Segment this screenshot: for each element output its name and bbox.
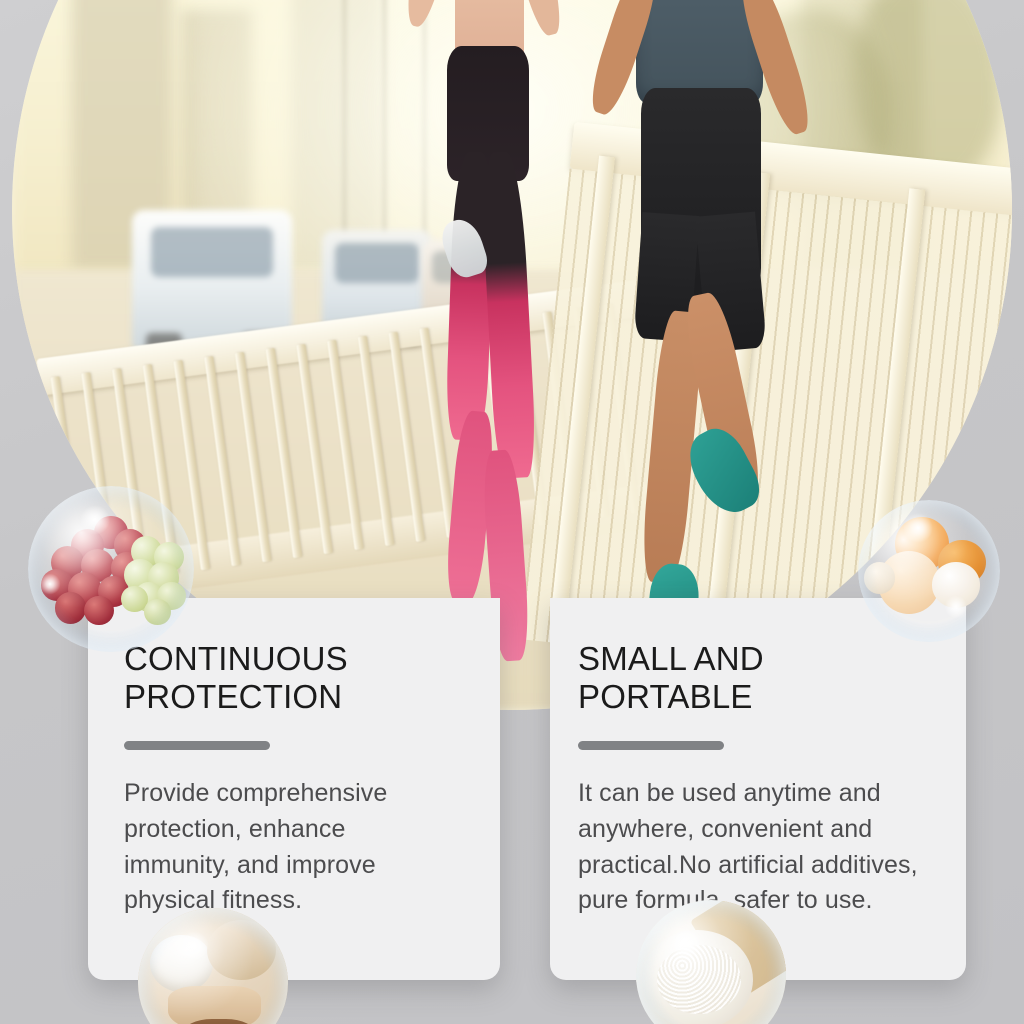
infographic-stage: CONTINUOUS PROTECTION Provide comprehens… [0, 0, 1024, 1024]
title-divider [578, 741, 724, 750]
card-title-line-2: PROTECTION [124, 678, 342, 715]
card-body-text: It can be used anytime and anywhere, con… [578, 776, 932, 919]
title-divider [124, 741, 270, 750]
grapes-bubble-icon [28, 486, 194, 652]
man-runner [602, 0, 862, 680]
card-title-line-1: SMALL AND [578, 640, 764, 677]
card-title: SMALL AND PORTABLE [578, 640, 932, 715]
cereal-milk-bubble-icon [138, 908, 288, 1024]
card-title-line-2: PORTABLE [578, 678, 753, 715]
citrus-bubble-icon [858, 500, 1000, 642]
arm [401, 0, 463, 29]
card-body-text: Provide comprehensive protection, enhanc… [124, 776, 454, 919]
